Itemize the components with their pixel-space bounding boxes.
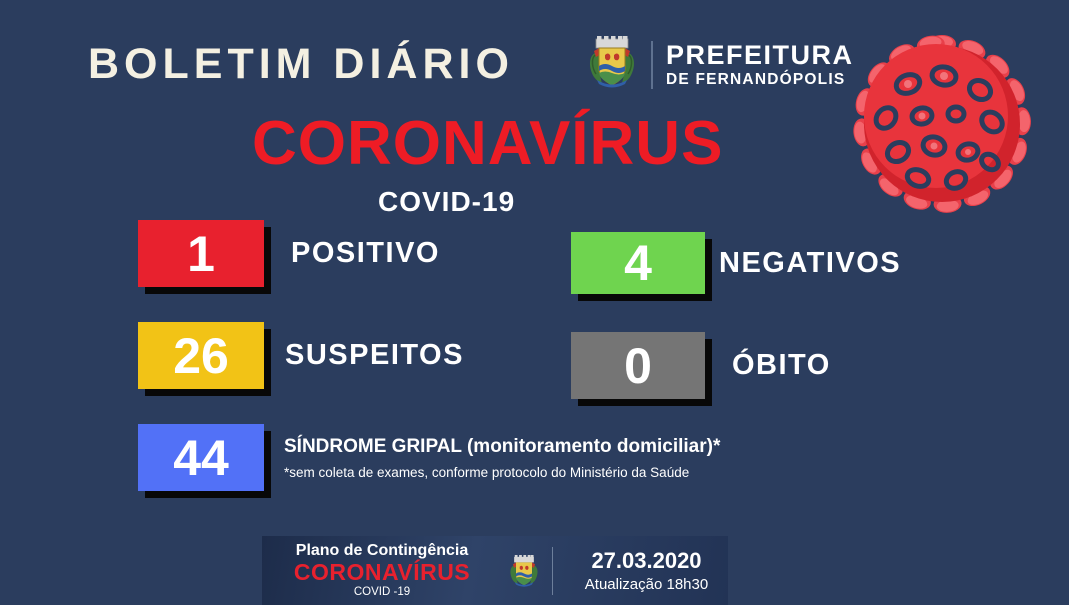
stat-box-suspeitos: 26 bbox=[138, 322, 264, 389]
stat-label-suspeitos: SUSPEITOS bbox=[285, 339, 464, 372]
covid-daily-bulletin-poster: BOLETIM DIÁRIO CORONAVÍRUS COVID-19 bbox=[0, 0, 1069, 605]
footer-date-block: 27.03.2020 Atualização 18h30 bbox=[565, 548, 728, 594]
stat-box-sindrome-gripal: 44 bbox=[138, 424, 264, 491]
stat-value-sindrome-gripal: 44 bbox=[173, 433, 229, 483]
stat-row-sindrome-gripal: 44 SÍNDROME GRIPAL (monitoramento domici… bbox=[138, 424, 720, 491]
stat-row-suspeitos: 26 SUSPEITOS bbox=[138, 322, 464, 389]
stat-label-sindrome-gripal: SÍNDROME GRIPAL (monitoramento domicilia… bbox=[284, 436, 720, 458]
page-title: BOLETIM DIÁRIO bbox=[88, 40, 514, 89]
sindrome-gripal-text: SÍNDROME GRIPAL (monitoramento domicilia… bbox=[284, 436, 720, 480]
footer-plan-covid: COVID -19 bbox=[354, 586, 410, 598]
prefeitura-logo: PREFEITURA DE FERNANDÓPOLIS bbox=[586, 33, 854, 96]
stat-row-obito: 0 ÓBITO bbox=[571, 332, 831, 399]
stat-label-negativos: NEGATIVOS bbox=[719, 247, 901, 280]
footer-bar: Plano de Contingência CORONAVÍRUS COVID … bbox=[262, 536, 728, 605]
footer-plan-disease: CORONAVÍRUS bbox=[294, 560, 470, 584]
footer-coat-of-arms-icon bbox=[502, 552, 546, 590]
disease-subtitle: COVID-19 bbox=[378, 186, 515, 218]
stat-row-positivo: 1 POSITIVO bbox=[138, 220, 440, 287]
footer-update-time: Atualização 18h30 bbox=[585, 576, 708, 593]
logo-divider bbox=[651, 41, 653, 89]
stat-label-obito: ÓBITO bbox=[732, 349, 831, 382]
disease-title: CORONAVÍRUS bbox=[252, 108, 723, 179]
footer-divider bbox=[552, 547, 553, 595]
footer-plan-block: Plano de Contingência CORONAVÍRUS COVID … bbox=[262, 543, 502, 599]
stat-row-negativos: 4 NEGATIVOS bbox=[571, 232, 901, 294]
stat-value-obito: 0 bbox=[624, 341, 652, 391]
footer-date: 27.03.2020 bbox=[591, 548, 701, 573]
coronavirus-particle-icon bbox=[824, 8, 1060, 240]
stat-label-positivo: POSITIVO bbox=[291, 237, 440, 270]
footer-plan-label: Plano de Contingência bbox=[296, 543, 468, 560]
stat-value-suspeitos: 26 bbox=[173, 331, 229, 381]
stat-value-negativos: 4 bbox=[624, 238, 652, 288]
sindrome-gripal-footnote: *sem coleta de exames, conforme protocol… bbox=[284, 465, 720, 480]
stat-box-negativos: 4 bbox=[571, 232, 705, 294]
stat-box-positivo: 1 bbox=[138, 220, 264, 287]
stat-box-obito: 0 bbox=[571, 332, 705, 399]
coat-of-arms-icon bbox=[586, 33, 638, 96]
stat-value-positivo: 1 bbox=[187, 229, 215, 279]
